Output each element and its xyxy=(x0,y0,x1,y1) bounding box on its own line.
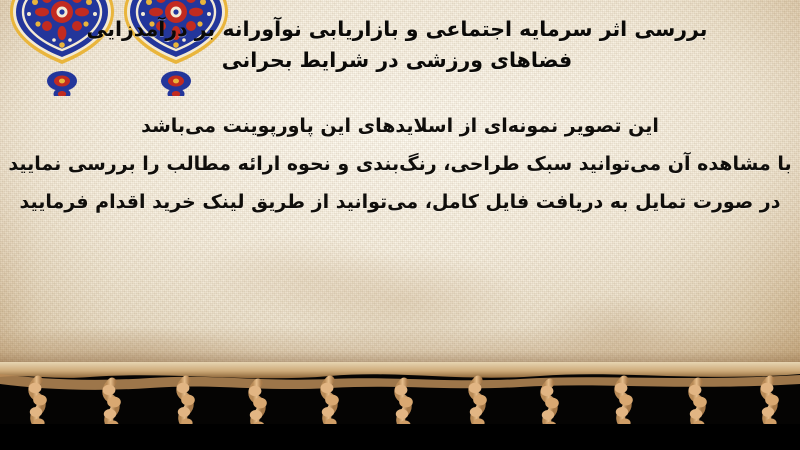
slide-title: بررسی اثر سرمایه اجتماعی و بازاریابی نوآ… xyxy=(0,14,800,76)
carpet-selvedge xyxy=(0,362,800,378)
body-line-3: در صورت تمایل به دریافت فایل کامل، می‌تو… xyxy=(0,183,800,221)
body-line-2: با مشاهده آن می‌توانید سبک طراحی، رنگ‌بن… xyxy=(0,145,800,183)
body-line-1: این تصویر نمونه‌ای از اسلایدهای این پاور… xyxy=(0,107,800,145)
slide-text-layer: بررسی اثر سرمایه اجتماعی و بازاریابی نوآ… xyxy=(0,0,800,372)
title-line-2: فضاهای ورزشی در شرایط بحرانی xyxy=(0,45,794,76)
slide-bottom-band xyxy=(0,424,800,450)
slide-body: این تصویر نمونه‌ای از اسلایدهای این پاور… xyxy=(0,107,800,221)
presentation-slide: بررسی اثر سرمایه اجتماعی و بازاریابی نوآ… xyxy=(0,0,800,450)
title-line-1: بررسی اثر سرمایه اجتماعی و بازاریابی نوآ… xyxy=(0,14,794,45)
